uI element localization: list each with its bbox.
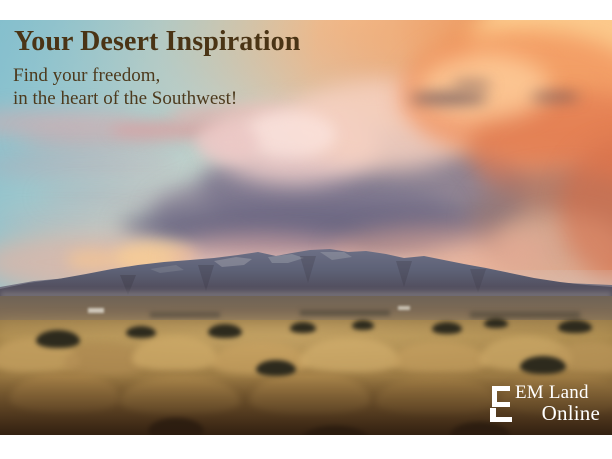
tagline: Find your freedom, in the heart of the S… <box>13 64 237 110</box>
tagline-line-2: in the heart of the Southwest! <box>13 87 237 110</box>
desert-shrub <box>36 330 80 348</box>
logo[interactable]: EM Land Online <box>488 382 600 432</box>
desert-shrub <box>256 360 296 376</box>
desert-shrub <box>484 318 508 328</box>
desert-shrub <box>352 320 374 330</box>
desert-inspiration-banner: Your Desert Inspiration Find your freedo… <box>0 0 612 459</box>
desert-shrub <box>208 324 242 338</box>
logo-line-2: Online <box>513 403 600 424</box>
logo-line-1: EM Land <box>513 382 600 403</box>
desert-shrub <box>558 320 592 333</box>
desert-shrub <box>126 326 156 338</box>
desert-shrub <box>520 356 566 374</box>
bottom-letterbox-bar <box>0 435 612 459</box>
cloud-dark-wisp-right-a <box>410 92 488 105</box>
distant-treeline-c <box>470 312 580 318</box>
cloud-tower-lit-knob <box>196 124 260 160</box>
page-title: Your Desert Inspiration <box>14 26 300 58</box>
distant-building-right <box>398 306 410 310</box>
distant-treeline-a <box>150 312 220 318</box>
land-plot-bracket-icon <box>488 384 514 424</box>
desert-shrub <box>290 322 316 333</box>
cloud-dark-wisp-right-c <box>452 80 492 89</box>
desert-shrub <box>432 322 462 334</box>
tagline-line-1: Find your freedom, <box>13 64 237 87</box>
top-letterbox-bar <box>0 0 612 20</box>
cloud-dark-wisp-right-b <box>530 92 580 102</box>
distant-building-left <box>88 308 104 313</box>
distant-treeline-b <box>300 310 390 316</box>
logo-text: EM Land Online <box>513 382 600 424</box>
cloud-tower-lit-top-c <box>246 112 336 158</box>
